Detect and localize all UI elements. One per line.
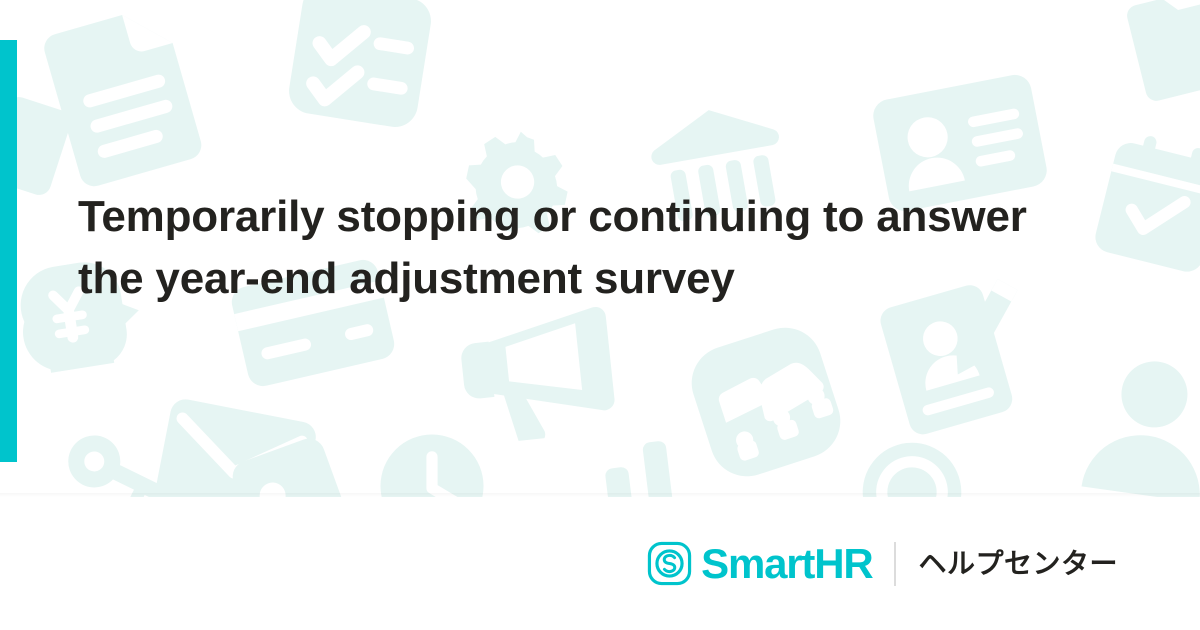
folder-icon — [226, 432, 351, 497]
commute-car-icon — [673, 309, 859, 495]
stamp-icon — [843, 423, 982, 497]
smarthr-s-logo-icon — [647, 541, 692, 586]
checklist-icon — [276, 0, 444, 137]
megaphone-icon — [456, 298, 631, 446]
smarthr-wordmark: SmartHR — [701, 543, 872, 585]
page-title: Temporarily stopping or continuing to an… — [78, 186, 1158, 311]
brand-divider — [894, 542, 896, 586]
chart-bar-icon — [554, 433, 684, 497]
folder-icon — [1115, 0, 1200, 106]
document-icon — [31, 0, 223, 200]
clock-icon — [376, 430, 488, 497]
smarthr-logo: SmartHR — [647, 541, 872, 586]
hero-section: Temporarily stopping or continuing to an… — [0, 0, 1200, 497]
brand-lockup: SmartHR ヘルプセンター — [647, 541, 1118, 586]
left-accent-bar — [0, 40, 17, 462]
envelope-icon — [151, 393, 322, 497]
footer-branding: SmartHR ヘルプセンター — [0, 497, 1200, 630]
person-icon — [1075, 347, 1200, 497]
ogp-share-card: Temporarily stopping or continuing to an… — [0, 0, 1200, 630]
key-icon — [43, 405, 187, 497]
help-center-label: ヘルプセンター — [918, 550, 1118, 578]
